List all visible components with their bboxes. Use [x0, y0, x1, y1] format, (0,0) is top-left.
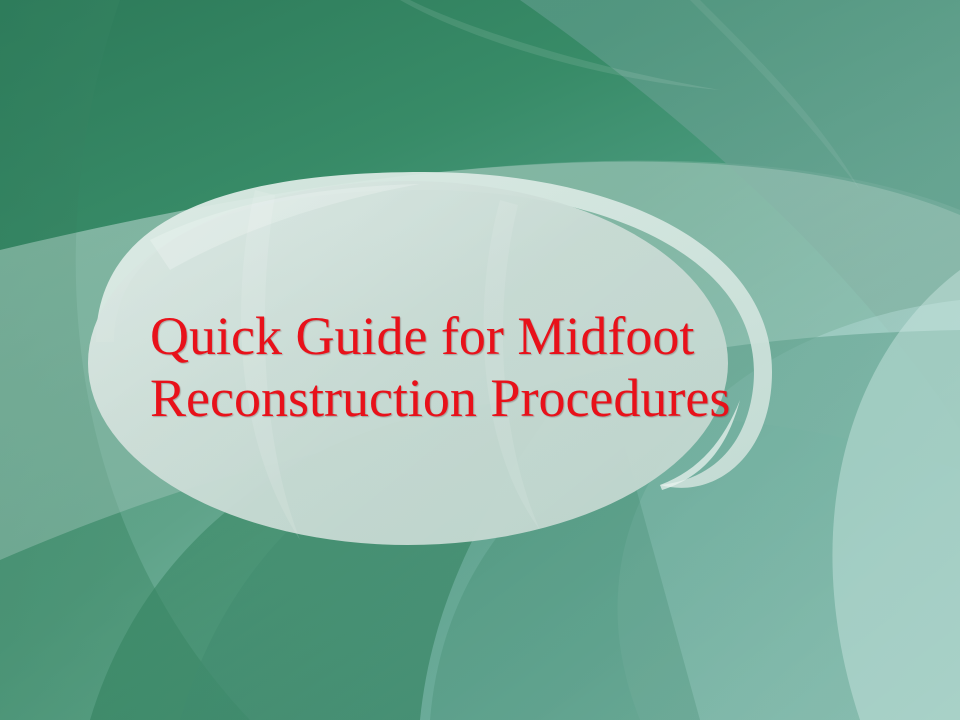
title-line-1: Quick Guide for Midfoot — [150, 305, 790, 367]
title-line-2: Reconstruction Procedures — [150, 367, 790, 429]
title-slide: Quick Guide for Midfoot Reconstruction P… — [0, 0, 960, 720]
title-text-block: Quick Guide for Midfoot Reconstruction P… — [150, 305, 790, 429]
